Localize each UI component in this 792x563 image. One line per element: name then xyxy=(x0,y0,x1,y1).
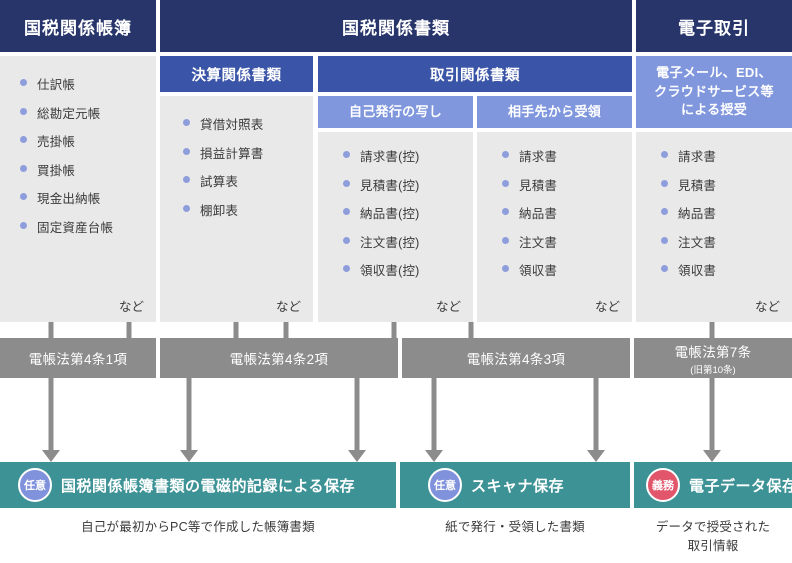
panel-etransaction: 請求書 見積書 納品書 注文書 領収書 など xyxy=(636,132,792,322)
sub-header-settlement: 決算関係書類 xyxy=(160,56,313,92)
sub-header-settlement-label: 決算関係書類 xyxy=(192,64,282,85)
law-bar-label: 電帳法第7条 xyxy=(675,341,752,361)
etc-label: など xyxy=(119,296,144,315)
connector-arrow xyxy=(42,378,60,462)
panel-settlement-list: 貸借対照表 損益計算書 試算表 棚卸表 xyxy=(160,96,313,219)
sub-header-self-issued: 自己発行の写し xyxy=(318,96,473,128)
connector-arrow xyxy=(348,378,366,462)
list-item: 見積書 xyxy=(658,175,792,194)
status-badge-required: 義務 xyxy=(646,468,680,502)
law-bar-article4-3: 電帳法第4条3項 xyxy=(402,338,630,378)
diagram-root: 国税関係帳簿 国税関係書類 電子取引 決算関係書類 取引関係書類 自己発行の写し… xyxy=(0,0,792,563)
law-bar-article4-1: 電帳法第4条1項 xyxy=(0,338,156,378)
result-bar-electronic-data-storage: 義務 電子データ保存 xyxy=(634,462,792,508)
panel-received: 請求書 見積書 納品書 注文書 領収書 など xyxy=(477,132,632,322)
result-bar-label: 電子データ保存 xyxy=(689,475,792,496)
list-item: 注文書 xyxy=(658,232,792,251)
etc-label: など xyxy=(436,296,461,315)
law-bar-label: 電帳法第4条2項 xyxy=(230,348,328,368)
sub-header-electronic-line-1: 電子メール、EDI、 xyxy=(656,64,772,83)
panel-self-issued-list: 請求書(控) 見積書(控) 納品書(控) 注文書(控) 領収書(控) xyxy=(318,132,473,279)
law-bar-sublabel: (旧第10条) xyxy=(690,362,735,376)
panel-etransaction-list: 請求書 見積書 納品書 注文書 領収書 xyxy=(636,132,792,279)
caption-data-transactions: データで授受された 取引情報 xyxy=(634,518,792,557)
sub-header-transaction-label: 取引関係書類 xyxy=(430,64,520,85)
sub-header-transaction: 取引関係書類 xyxy=(318,56,632,92)
caption-line: データで授受された xyxy=(656,520,770,534)
list-item: 仕訳帳 xyxy=(17,74,156,93)
panel-settlement: 貸借対照表 損益計算書 試算表 棚卸表 など xyxy=(160,96,313,322)
panel-self-issued: 請求書(控) 見積書(控) 納品書(控) 注文書(控) 領収書(控) など xyxy=(318,132,473,322)
status-badge-optional: 任意 xyxy=(18,468,52,502)
panel-books-list: 仕訳帳 総勘定元帳 売掛帳 買掛帳 現金出納帳 固定資産台帳 xyxy=(0,56,156,236)
list-item: 棚卸表 xyxy=(180,200,313,219)
top-header-documents-label: 国税関係書類 xyxy=(342,14,450,39)
list-item: 注文書(控) xyxy=(340,232,473,251)
panel-books: 仕訳帳 総勘定元帳 売掛帳 買掛帳 現金出納帳 固定資産台帳 など xyxy=(0,56,156,322)
sub-header-received: 相手先から受領 xyxy=(477,96,632,128)
list-item: 領収書 xyxy=(499,260,632,279)
sub-header-electronic-line-3: による授受 xyxy=(681,101,747,120)
connector-arrow xyxy=(425,378,443,462)
top-header-books-label: 国税関係帳簿 xyxy=(24,14,132,39)
list-item: 貸借対照表 xyxy=(180,114,313,133)
list-item: 注文書 xyxy=(499,232,632,251)
etc-label: など xyxy=(595,296,620,315)
sub-header-received-label: 相手先から受領 xyxy=(508,103,601,122)
result-bar-label: スキャナ保存 xyxy=(471,475,564,496)
list-item: 総勘定元帳 xyxy=(17,103,156,122)
list-item: 納品書(控) xyxy=(340,203,473,222)
result-bar-electromagnetic-storage: 任意 国税関係帳簿書類の電磁的記録による保存 xyxy=(0,462,396,508)
list-item: 見積書 xyxy=(499,175,632,194)
list-item: 見積書(控) xyxy=(340,175,473,194)
list-item: 納品書 xyxy=(658,203,792,222)
etc-label: など xyxy=(755,296,780,315)
law-bar-article4-2: 電帳法第4条2項 xyxy=(160,338,398,378)
caption-line: 自己が最初からPC等で作成した帳簿書類 xyxy=(81,520,315,534)
caption-line: 取引情報 xyxy=(688,539,739,553)
list-item: 現金出納帳 xyxy=(17,188,156,207)
list-item: 納品書 xyxy=(499,203,632,222)
sub-header-self-issued-label: 自己発行の写し xyxy=(349,103,442,122)
connector-arrow xyxy=(703,378,721,462)
top-header-etransaction-label: 電子取引 xyxy=(678,14,750,39)
law-bar-label: 電帳法第4条3項 xyxy=(467,348,565,368)
law-bar-article7: 電帳法第7条 (旧第10条) xyxy=(634,338,792,378)
list-item: 買掛帳 xyxy=(17,160,156,179)
law-bar-label: 電帳法第4条1項 xyxy=(29,348,127,368)
panel-received-list: 請求書 見積書 納品書 注文書 領収書 xyxy=(477,132,632,279)
list-item: 試算表 xyxy=(180,171,313,190)
caption-created-on-pc: 自己が最初からPC等で作成した帳簿書類 xyxy=(0,518,396,537)
status-badge-optional: 任意 xyxy=(428,468,462,502)
list-item: 請求書 xyxy=(658,146,792,165)
sub-header-electronic-line-2: クラウドサービス等 xyxy=(654,83,774,102)
result-bar-scanner-storage: 任意 スキャナ保存 xyxy=(400,462,630,508)
caption-line: 紙で発行・受領した書類 xyxy=(445,520,585,534)
connector-arrow xyxy=(180,378,198,462)
list-item: 請求書 xyxy=(499,146,632,165)
top-header-documents: 国税関係書類 xyxy=(160,0,632,52)
top-header-books: 国税関係帳簿 xyxy=(0,0,156,52)
list-item: 請求書(控) xyxy=(340,146,473,165)
caption-paper-documents: 紙で発行・受領した書類 xyxy=(400,518,630,537)
list-item: 領収書 xyxy=(658,260,792,279)
list-item: 売掛帳 xyxy=(17,131,156,150)
result-bar-label: 国税関係帳簿書類の電磁的記録による保存 xyxy=(61,475,355,496)
etc-label: など xyxy=(276,296,301,315)
connector-arrow xyxy=(587,378,605,462)
list-item: 領収書(控) xyxy=(340,260,473,279)
list-item: 固定資産台帳 xyxy=(17,217,156,236)
top-header-etransaction: 電子取引 xyxy=(636,0,792,52)
list-item: 損益計算書 xyxy=(180,143,313,162)
sub-header-electronic-means: 電子メール、EDI、 クラウドサービス等 による授受 xyxy=(636,56,792,128)
